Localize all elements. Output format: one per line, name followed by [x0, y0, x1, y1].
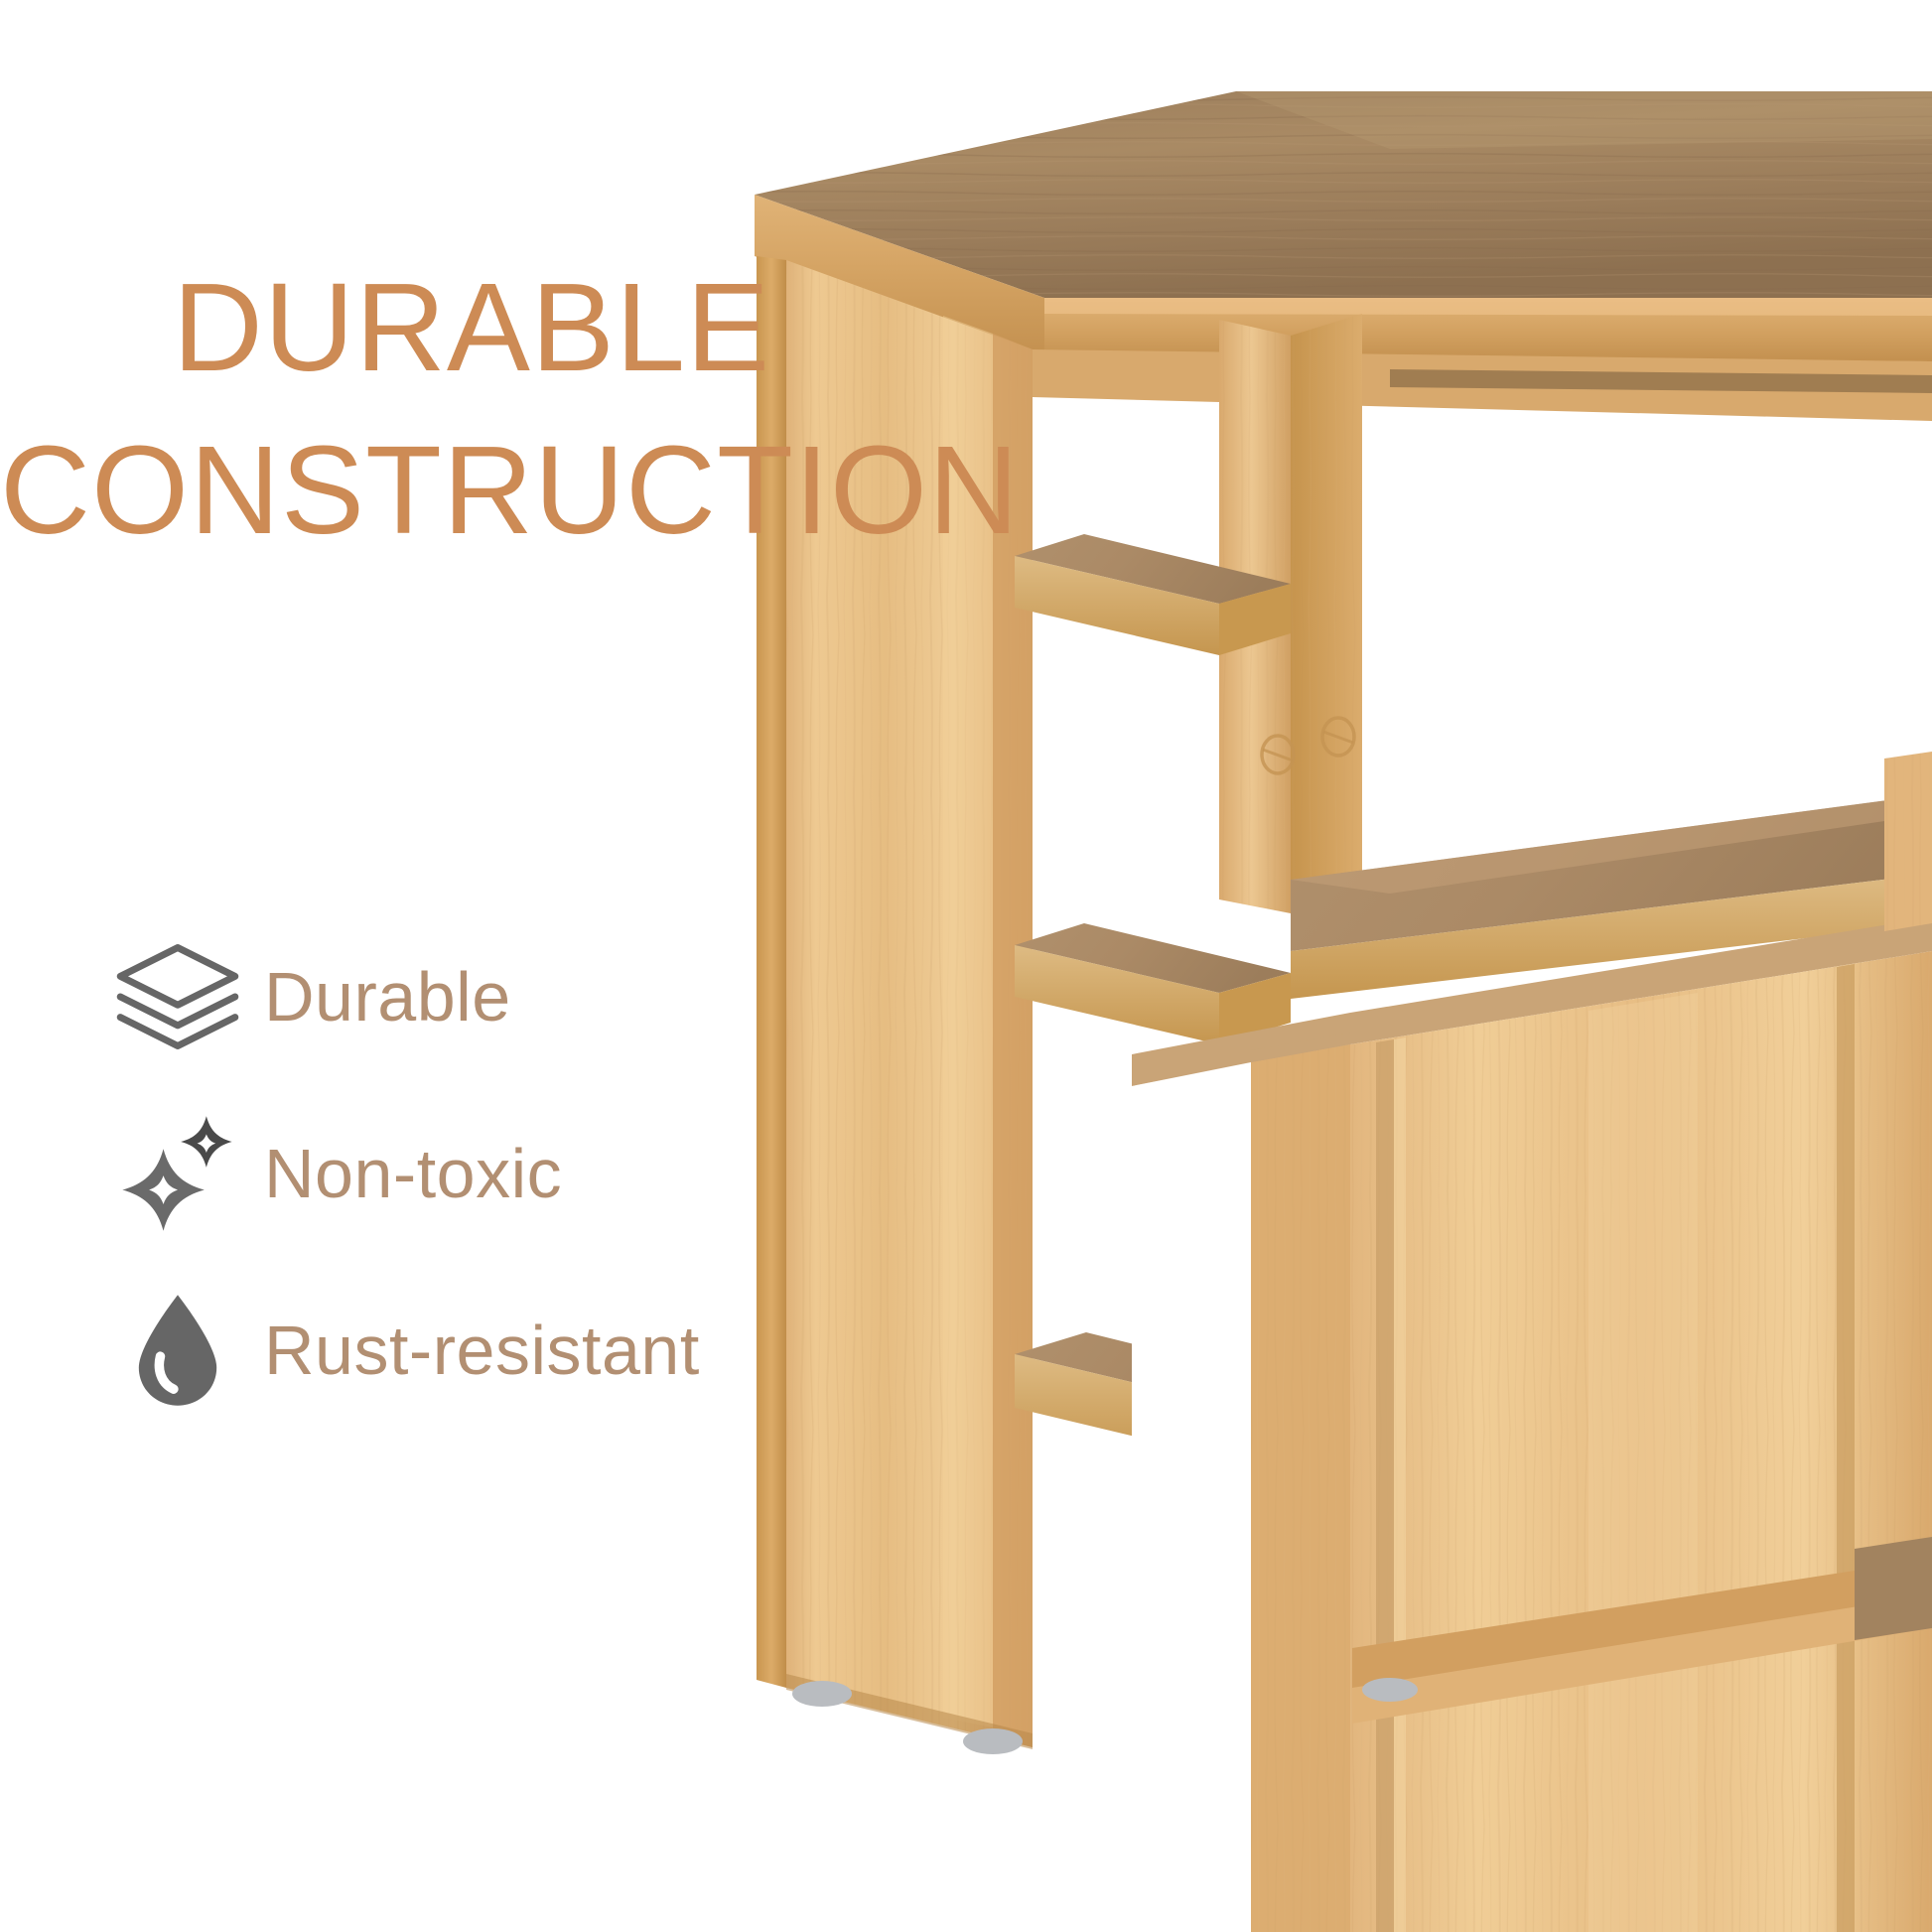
feature-item-non-toxic: Non-toxic — [103, 1085, 927, 1262]
headline-line-1: DURABLE — [0, 246, 943, 409]
feature-label-durable: Durable — [264, 957, 511, 1036]
product-marketing-canvas: DURABLE CONSTRUCTION Durable — [0, 0, 1932, 1932]
layers-icon — [103, 922, 252, 1071]
feature-label-non-toxic: Non-toxic — [264, 1134, 562, 1213]
page-title: DURABLE CONSTRUCTION — [0, 246, 943, 572]
droplet-icon — [103, 1276, 252, 1425]
sparkle-icon — [103, 1099, 252, 1248]
feature-list: Durable Non-toxic Rust-res — [103, 908, 927, 1439]
feature-item-durable: Durable — [103, 908, 927, 1085]
feature-item-rust-resistant: Rust-resistant — [103, 1262, 927, 1439]
feature-label-rust-resistant: Rust-resistant — [264, 1311, 700, 1390]
headline-line-2: CONSTRUCTION — [0, 409, 943, 572]
